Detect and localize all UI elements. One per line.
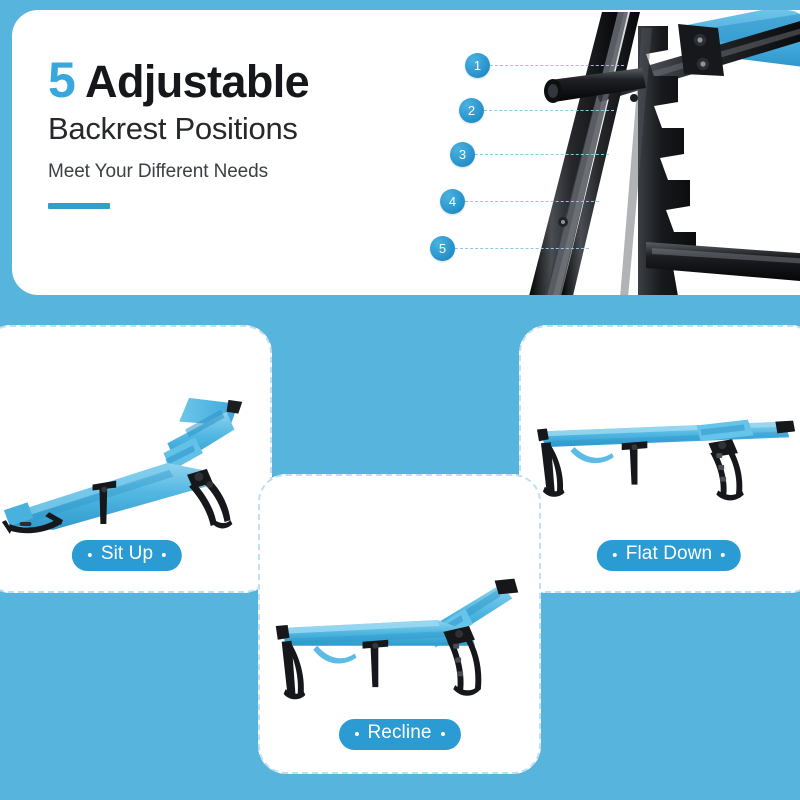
card-label-sit-up: Sit Up bbox=[72, 540, 182, 571]
pill-dot-left-icon bbox=[354, 732, 358, 736]
hero-panel: 5 Adjustable Backrest Positions Meet You… bbox=[12, 10, 800, 295]
callout-badge-3-label: 3 bbox=[459, 147, 466, 162]
pill-dot-right-icon bbox=[162, 553, 166, 557]
accent-bar bbox=[48, 203, 110, 209]
callout-badge-3[interactable]: 3 bbox=[450, 142, 475, 167]
leader-line-2 bbox=[484, 110, 614, 111]
callout-badge-2-label: 2 bbox=[468, 103, 475, 118]
card-recline: Recline bbox=[258, 474, 541, 774]
callout-badge-4[interactable]: 4 bbox=[440, 189, 465, 214]
callout-badge-5-label: 5 bbox=[439, 241, 446, 256]
pill-dot-right-icon bbox=[721, 553, 725, 557]
leader-line-4 bbox=[465, 201, 599, 202]
ratchet-mechanism-photo bbox=[432, 10, 800, 295]
headline-rest: Adjustable bbox=[85, 56, 309, 107]
page-subtitle: Backrest Positions bbox=[48, 112, 428, 147]
card-sit-up: Sit Up bbox=[0, 325, 272, 593]
callout-badge-5[interactable]: 5 bbox=[430, 236, 455, 261]
leader-line-3 bbox=[475, 154, 609, 155]
pill-dot-left-icon bbox=[613, 553, 617, 557]
page-tagline: Meet Your Different Needs bbox=[48, 161, 428, 183]
card-label-sit-up-text: Sit Up bbox=[101, 544, 153, 565]
card-label-flat-down: Flat Down bbox=[597, 540, 741, 571]
callout-badge-1-label: 1 bbox=[474, 58, 481, 73]
headline-number: 5 bbox=[48, 52, 75, 108]
callout-badge-2[interactable]: 2 bbox=[459, 98, 484, 123]
page-title: 5 Adjustable bbox=[48, 54, 428, 106]
leader-line-1 bbox=[490, 65, 624, 66]
pill-dot-right-icon bbox=[441, 732, 445, 736]
hero-text-block: 5 Adjustable Backrest Positions Meet You… bbox=[48, 54, 428, 209]
pill-dot-left-icon bbox=[88, 553, 92, 557]
callout-badge-4-label: 4 bbox=[449, 194, 456, 209]
callout-badge-1[interactable]: 1 bbox=[465, 53, 490, 78]
card-label-flat-down-text: Flat Down bbox=[626, 544, 712, 565]
leader-line-5 bbox=[455, 248, 589, 249]
card-label-recline-text: Recline bbox=[367, 723, 431, 744]
card-label-recline: Recline bbox=[338, 719, 460, 750]
card-flat-down: Flat Down bbox=[519, 325, 800, 593]
infographic-page: 5 Adjustable Backrest Positions Meet You… bbox=[0, 0, 800, 800]
